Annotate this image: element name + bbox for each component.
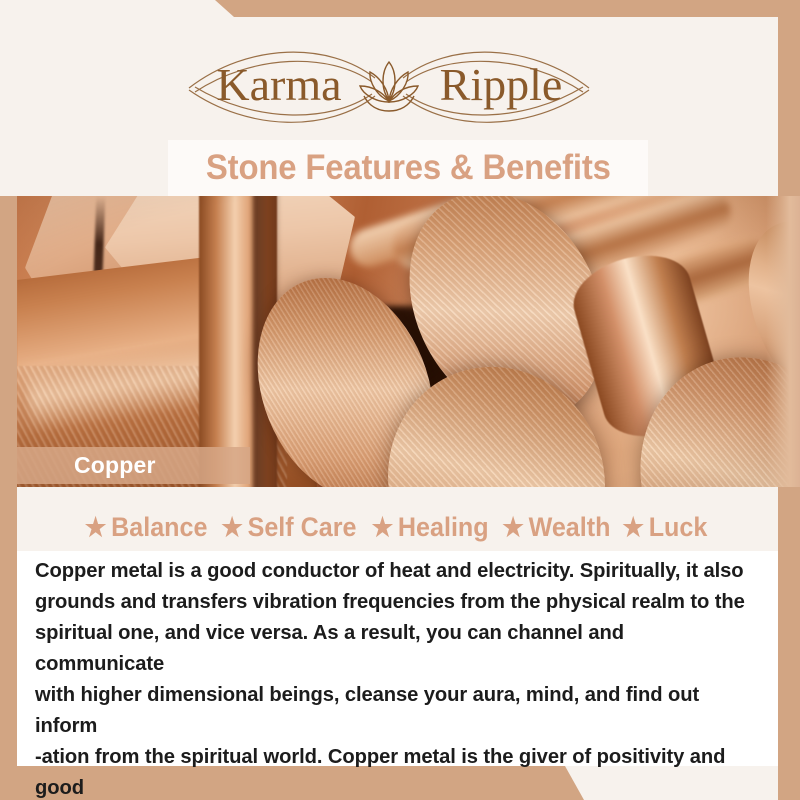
lotus-icon <box>360 62 418 111</box>
photo-base-layer <box>17 196 800 487</box>
benefit-item-healing: ★ Healing <box>371 512 493 543</box>
section-title-band: Stone Features & Benefits <box>168 140 648 196</box>
frame-top-bar <box>0 0 800 17</box>
benefit-item-wealth: ★ Wealth <box>502 512 615 543</box>
description-line: spiritual one, and vice versa. As a resu… <box>35 617 754 679</box>
star-icon: ★ <box>371 514 393 540</box>
page-title: Stone Features & Benefits <box>206 148 611 188</box>
benefits-row: ★ Balance ★ Self Care ★ Healing ★ Wealth… <box>17 505 778 549</box>
star-icon: ★ <box>222 514 244 540</box>
photo-right-fade <box>766 196 800 487</box>
brand-logo: Karma Ripple <box>0 24 778 144</box>
description-line: grounds and transfers vibration frequenc… <box>35 586 754 617</box>
photo-vignette <box>17 196 800 487</box>
benefit-label: Healing <box>398 512 489 543</box>
star-icon: ★ <box>84 514 106 540</box>
star-icon: ★ <box>502 514 524 540</box>
infographic-card: Karma Ripple Stone Features & Benefits <box>0 0 800 800</box>
photo-caption-band: Copper <box>17 447 250 484</box>
description-text: Copper metal is a good conductor of heat… <box>35 555 754 800</box>
benefit-item-luck: ★ Luck <box>622 512 712 543</box>
benefit-label: Luck <box>649 512 708 543</box>
benefit-item-self-care: ★ Self Care <box>222 512 362 543</box>
brand-logo-svg: Karma Ripple <box>179 32 599 136</box>
description-line: Copper metal is a good conductor of heat… <box>35 555 754 586</box>
photo-caption-label: Copper <box>74 452 156 479</box>
brand-name-left: Karma <box>216 59 341 110</box>
product-photo <box>17 196 800 487</box>
benefit-label: Balance <box>111 512 207 543</box>
benefit-label: Wealth <box>528 512 610 543</box>
description-line: with higher dimensional beings, cleanse … <box>35 679 754 741</box>
star-icon: ★ <box>622 514 644 540</box>
description-card: Copper metal is a good conductor of heat… <box>17 551 778 766</box>
brand-name-right: Ripple <box>440 59 563 110</box>
description-line: -ation from the spiritual world. Copper … <box>35 741 754 800</box>
frame-left-bar <box>0 196 17 800</box>
benefit-label: Self Care <box>248 512 357 543</box>
benefit-item-balance: ★ Balance <box>84 512 211 543</box>
